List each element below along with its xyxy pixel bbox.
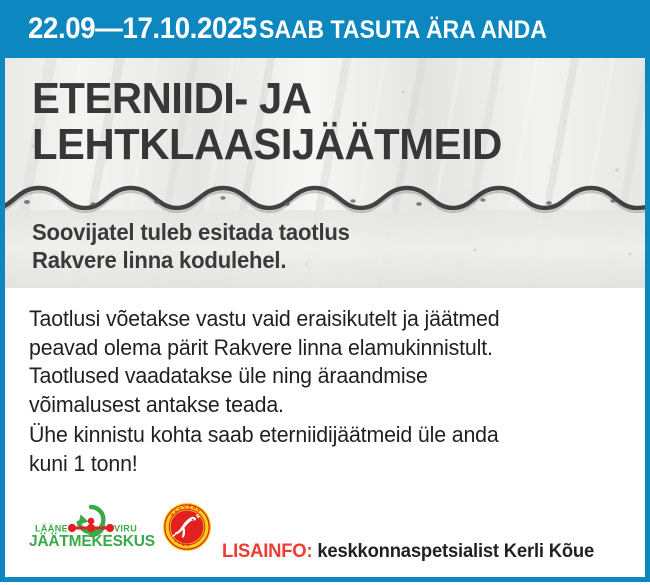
logo-word-laane: LÄÄNE [35, 524, 68, 534]
subheadline-line-1: Soovijatel tuleb esitada taotlus [32, 219, 350, 245]
headline-line-2: LEHTKLAASIJÄÄTMEID [32, 120, 502, 169]
headline-line-1: ETERNIIDI- JA [32, 74, 311, 123]
contact-line-1: LISAINFO: keskkonnaspetsialist Kerli Kõu… [222, 540, 594, 563]
svg-text:N: N [186, 542, 190, 547]
rakvere-city-seal-logo: R A K V E R E L I N N [162, 502, 212, 552]
body-paragraph-1: Taotlusi võetakse vastu vaid eraisikutel… [29, 305, 499, 419]
subheadline: Soovijatel tuleb esitada taotlus Rakvere… [32, 218, 350, 274]
header-banner-text: 22.09—17.10.2025SAAB TASUTA ÄRA ANDA [28, 14, 572, 44]
contact-person: keskkonnaspetsialist Kerli Kõue [312, 541, 594, 562]
subheadline-line-2: Rakvere linna kodulehel. [32, 247, 286, 273]
svg-text:E: E [188, 504, 191, 509]
body-paragraph-2: Ühe kinnistu kohta saab eterniidijäätmei… [29, 421, 499, 478]
header-banner: 22.09—17.10.2025SAAB TASUTA ÄRA ANDA [0, 0, 650, 58]
logo-word-jaatmekeskus: JÄÄTMEKESKUS [29, 533, 155, 549]
laane-viru-jaatmekeskus-logo: LÄÄNE VIRU JÄÄTMEKESKUS [25, 501, 157, 549]
footer: LÄÄNE VIRU JÄÄTMEKESKUS R A K V E R E L [5, 495, 645, 575]
contact-info: LISAINFO: keskkonnaspetsialist Kerli Kõu… [222, 504, 606, 585]
body-copy: Taotlusi võetakse vastu vaid eraisikutel… [5, 288, 645, 488]
advertisement-poster: 22.09—17.10.2025SAAB TASUTA ÄRA ANDA [0, 0, 650, 585]
frame-border-right [645, 0, 650, 582]
date-range: 22.09—17.10.2025 [28, 14, 257, 44]
lisainfo-label: LISAINFO: [222, 541, 312, 562]
header-tagline: SAAB TASUTA ÄRA ANDA [259, 18, 547, 43]
headline: ETERNIIDI- JA LEHTKLAASIJÄÄTMEID [32, 76, 502, 168]
hero-photo-corrugated-roof: ETERNIIDI- JA LEHTKLAASIJÄÄTMEID Soovija… [5, 58, 645, 288]
logo-word-viru: VIRU [114, 524, 137, 534]
